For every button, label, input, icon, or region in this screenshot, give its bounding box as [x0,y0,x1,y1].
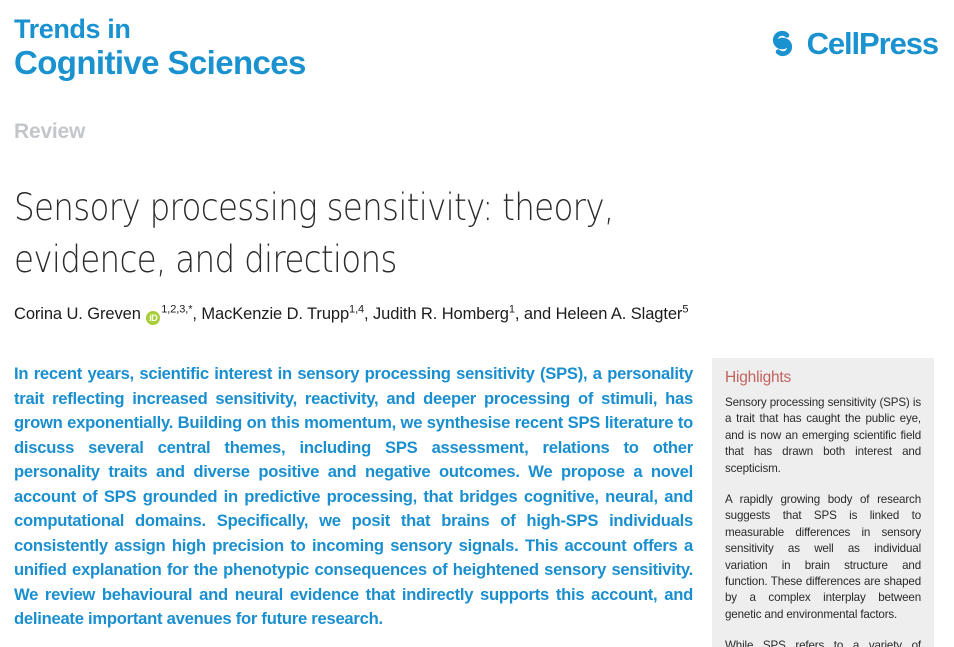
article-page: Trends in Cognitive Sciences CellPress R… [0,0,954,647]
journal-name-line-1: Trends in [14,14,614,45]
highlight-item: While SPS refers to a variety of charac- [725,638,921,647]
journal-name-line-2: Cognitive Sciences [14,45,614,81]
highlights-title: Highlights [725,368,921,388]
page-title: Sensory processing sensitivity: theory, … [14,182,718,286]
orcid-icon[interactable]: iD [146,311,160,325]
abstract-text: In recent years, scientific interest in … [14,362,693,632]
highlights-box: Highlights Sensory processing sensitivit… [712,358,934,647]
cellpress-loop-icon [767,28,798,59]
journal-masthead: Trends in Cognitive Sciences [14,14,614,81]
publisher-name: CellPress [807,28,938,59]
highlight-item: A rapidly growing body of research sugge… [725,492,921,623]
author-list: Corina U. Greven iD1,2,3,*, MacKenzie D.… [14,303,934,325]
highlight-item: Sensory processing sensitivity (SPS) is … [725,395,921,477]
article-type-label: Review [14,120,85,144]
publisher-logo: CellPress [767,28,938,59]
